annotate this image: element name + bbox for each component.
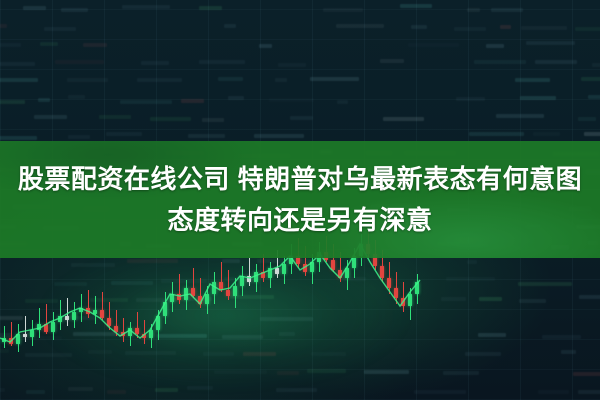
ticker-text-fragment	[467, 260, 477, 264]
candle-body	[247, 276, 251, 282]
candle-body	[415, 282, 419, 294]
ticker-text-fragment	[469, 132, 524, 136]
ticker-text-fragment	[0, 136, 37, 140]
ticker-text-fragment	[181, 99, 204, 103]
ticker-text-fragment	[515, 78, 550, 82]
candle-wick	[67, 298, 68, 326]
candle-body	[233, 286, 237, 296]
ticker-text-fragment	[199, 6, 222, 10]
candle-body	[30, 330, 34, 337]
ticker-text-fragment	[454, 27, 486, 31]
candle-body	[401, 298, 405, 306]
ticker-text-fragment	[578, 390, 600, 394]
candle-body	[2, 338, 6, 342]
candle-body	[394, 288, 398, 298]
candle-body	[191, 288, 195, 296]
ticker-text-fragment	[254, 134, 304, 138]
ticker-text-fragment	[67, 78, 108, 82]
ticker-text-fragment	[400, 4, 432, 8]
candle-body	[37, 324, 41, 330]
candle-body	[282, 264, 286, 274]
candle-body	[163, 302, 167, 316]
candle-body	[114, 326, 118, 332]
headline-line-2: 态度转向还是另有深意	[167, 201, 432, 239]
candle-body	[212, 282, 216, 294]
ticker-text-fragment	[519, 299, 546, 303]
candle-body	[16, 334, 20, 344]
candle-body	[303, 264, 307, 272]
ticker-text-fragment	[68, 95, 85, 99]
ticker-text-fragment	[61, 8, 88, 12]
ticker-text-fragment	[259, 44, 272, 48]
ticker-text-fragment	[278, 63, 306, 67]
ticker-text-fragment	[456, 97, 485, 101]
ticker-text-fragment	[518, 282, 572, 286]
ticker-text-fragment	[38, 98, 50, 102]
ticker-text-fragment	[581, 77, 600, 81]
candle-body	[387, 278, 391, 288]
ticker-text-fragment	[0, 78, 38, 82]
ticker-text-fragment	[561, 350, 576, 354]
ticker-text-fragment	[218, 77, 243, 81]
ticker-text-fragment	[83, 43, 107, 47]
ticker-text-fragment	[106, 132, 142, 136]
candle-body	[44, 324, 48, 332]
candle-wick	[4, 326, 5, 348]
ticker-text-fragment	[486, 44, 504, 48]
candle-body	[135, 328, 139, 334]
candle-body	[170, 294, 174, 302]
ticker-text-fragment	[408, 43, 459, 47]
ticker-text-fragment	[383, 117, 424, 121]
ticker-text-fragment	[380, 59, 404, 63]
candle-body	[93, 310, 97, 314]
candle-body	[177, 294, 181, 300]
ticker-text-fragment	[199, 60, 245, 64]
candle-body	[65, 316, 69, 320]
candle-wick	[25, 316, 26, 342]
ticker-text-fragment	[526, 41, 575, 45]
candle-body	[268, 268, 272, 278]
candle-body	[345, 268, 349, 278]
ticker-text-fragment	[0, 100, 25, 104]
ticker-text-fragment	[323, 8, 363, 12]
ticker-text-fragment	[336, 24, 384, 28]
ticker-text-fragment	[275, 78, 287, 82]
ticker-text-fragment	[478, 333, 506, 337]
ticker-text-fragment	[122, 5, 170, 9]
candle-body	[275, 268, 279, 274]
ticker-text-fragment	[0, 62, 35, 66]
ticker-text-fragment	[23, 6, 46, 10]
candle-body	[100, 310, 104, 318]
candle-body	[240, 276, 244, 286]
ticker-text-fragment	[535, 60, 577, 64]
candle-body	[79, 308, 83, 312]
candle-body	[72, 312, 76, 320]
ticker-text-fragment	[479, 297, 502, 301]
headline-text-block: 股票配资在线公司 特朗普对乌最新表态有何意图 态度转向还是另有深意	[0, 141, 600, 258]
ticker-text-fragment	[150, 117, 191, 121]
ticker-text-fragment	[68, 135, 90, 139]
ticker-text-fragment	[579, 295, 600, 299]
ticker-text-fragment	[55, 60, 104, 64]
candle-body	[156, 316, 160, 330]
candle-body	[128, 328, 132, 336]
ticker-text-fragment	[584, 132, 600, 136]
ticker-text-fragment	[269, 98, 314, 102]
ticker-text-fragment	[542, 335, 581, 339]
news-thumbnail-image: 股票配资在线公司 特朗普对乌最新表态有何意图 态度转向还是另有深意	[0, 0, 600, 400]
ticker-text-fragment	[496, 114, 544, 118]
candle-body	[380, 266, 384, 278]
ticker-text-fragment	[44, 27, 76, 31]
ticker-text-fragment	[202, 118, 224, 122]
ticker-text-fragment	[465, 352, 501, 356]
candle-body	[198, 296, 202, 304]
candle-body	[254, 272, 258, 282]
ticker-text-fragment	[0, 43, 21, 47]
ticker-text-fragment	[188, 134, 225, 138]
candle-body	[142, 334, 146, 338]
ticker-text-fragment	[290, 116, 313, 120]
candle-body	[107, 318, 111, 326]
candle-wick	[144, 320, 145, 344]
ticker-text-fragment	[224, 24, 236, 28]
candle-wick	[403, 282, 404, 312]
candle-body	[338, 270, 342, 278]
ticker-text-fragment	[474, 60, 526, 64]
candle-body	[58, 316, 62, 322]
ticker-text-fragment	[575, 27, 600, 31]
ticker-text-fragment	[0, 24, 7, 28]
candle-body	[184, 288, 188, 300]
ticker-text-fragment	[521, 26, 567, 30]
candle-body	[408, 294, 412, 306]
ticker-text-fragment	[588, 95, 600, 99]
ticker-text-fragment	[491, 8, 523, 12]
ticker-text-fragment	[578, 117, 596, 121]
ticker-text-fragment	[337, 100, 348, 104]
candle-body	[149, 330, 153, 338]
candle-body	[226, 290, 230, 296]
headline-line-1: 股票配资在线公司 特朗普对乌最新表态有何意图	[18, 160, 582, 198]
ticker-text-fragment	[137, 78, 182, 82]
ticker-text-fragment	[533, 132, 560, 136]
candle-body	[331, 260, 335, 270]
candle-body	[310, 262, 314, 272]
ticker-text-fragment	[520, 96, 556, 100]
candle-body	[23, 334, 27, 337]
ticker-text-fragment	[411, 25, 427, 29]
candle-wick	[116, 310, 117, 336]
ticker-text-fragment	[446, 277, 495, 281]
ticker-text-fragment	[34, 115, 67, 119]
ticker-text-fragment	[120, 100, 172, 104]
candle-body	[261, 272, 265, 278]
candle-body	[86, 308, 90, 314]
candle-body	[205, 294, 209, 304]
ticker-text-fragment	[99, 115, 131, 119]
candle-body	[9, 338, 13, 344]
ticker-text-fragment	[228, 96, 244, 100]
candle-body	[121, 332, 125, 336]
ticker-text-fragment	[592, 63, 600, 67]
ticker-text-fragment	[40, 42, 58, 46]
candle-wick	[60, 300, 61, 330]
ticker-text-fragment	[538, 390, 569, 394]
candle-wick	[123, 318, 124, 342]
candle-wick	[39, 308, 40, 338]
candle-body	[51, 322, 55, 332]
ticker-text-fragment	[573, 372, 600, 376]
ticker-text-fragment	[310, 77, 359, 81]
ticker-text-fragment	[500, 25, 511, 29]
candle-wick	[137, 312, 138, 338]
ticker-text-fragment	[141, 61, 169, 65]
candle-body	[219, 282, 223, 290]
ticker-text-fragment	[467, 8, 480, 12]
